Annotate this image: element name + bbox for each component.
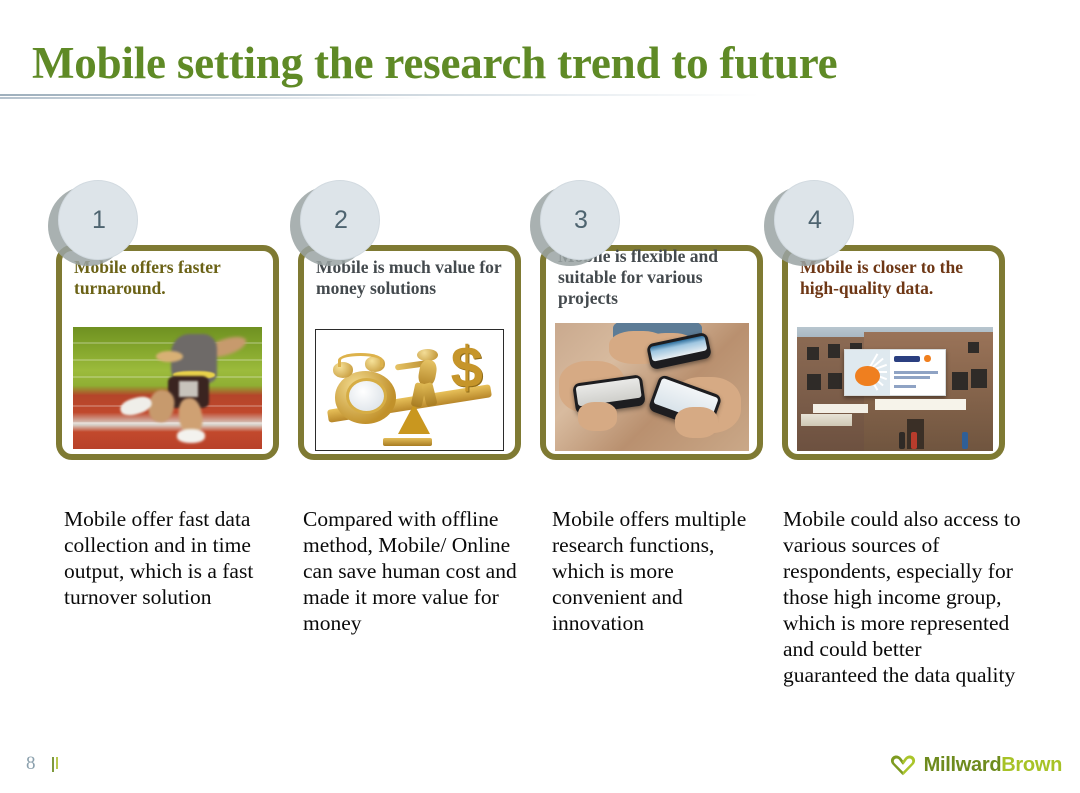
- card-3[interactable]: Mobile is flexible and suitable for vari…: [540, 245, 763, 460]
- card-3-body: Mobile offers multiple research function…: [552, 506, 768, 636]
- title-block: Mobile setting the research trend to fut…: [0, 34, 1080, 106]
- footer-tick-icon: [52, 757, 61, 773]
- slide-footer: 8 MillwardBrown: [0, 747, 1080, 793]
- step-badge-1: 1: [48, 180, 132, 264]
- step-badge-3: 3: [530, 180, 614, 264]
- heart-butterfly-icon: [890, 754, 916, 776]
- card-4-body: Mobile could also access to various sour…: [783, 506, 1021, 688]
- millwardbrown-logo: MillwardBrown: [890, 753, 1062, 777]
- logo-wordmark: MillwardBrown: [924, 754, 1062, 777]
- card-4[interactable]: Mobile is closer to the high-quality dat…: [782, 245, 1005, 460]
- card-1-body: Mobile offer fast data collection and in…: [64, 506, 286, 610]
- page-number: 8: [26, 753, 36, 775]
- step-badge-2: 2: [290, 180, 374, 264]
- body-text-row: Mobile offer fast data collection and in…: [0, 506, 1080, 736]
- page-title: Mobile setting the research trend to fut…: [32, 34, 837, 92]
- slide: Mobile setting the research trend to fut…: [0, 0, 1080, 793]
- cards-row: 1 Mobile offers faster turnaround.: [0, 180, 1080, 470]
- logo-text-millward: Millward: [924, 754, 1002, 776]
- step-badge-4: 4: [764, 180, 848, 264]
- title-divider: [0, 94, 1080, 100]
- logo-text-brown: Brown: [1001, 754, 1062, 776]
- badge-number-4: 4: [774, 180, 854, 260]
- card-1[interactable]: Mobile offers faster turnaround.: [56, 245, 279, 460]
- hands-holding-smartphones-photo: [555, 323, 749, 451]
- badge-number-2: 2: [300, 180, 380, 260]
- clock-and-dollar-on-seesaw-photo: $: [315, 329, 504, 451]
- card-2[interactable]: Mobile is much value for money solutions: [298, 245, 521, 460]
- badge-number-3: 3: [540, 180, 620, 260]
- billboard-on-building-photo: [797, 327, 993, 451]
- runner-on-track-photo: [73, 327, 262, 449]
- card-2-body: Compared with offline method, Mobile/ On…: [303, 506, 531, 636]
- badge-number-1: 1: [58, 180, 138, 260]
